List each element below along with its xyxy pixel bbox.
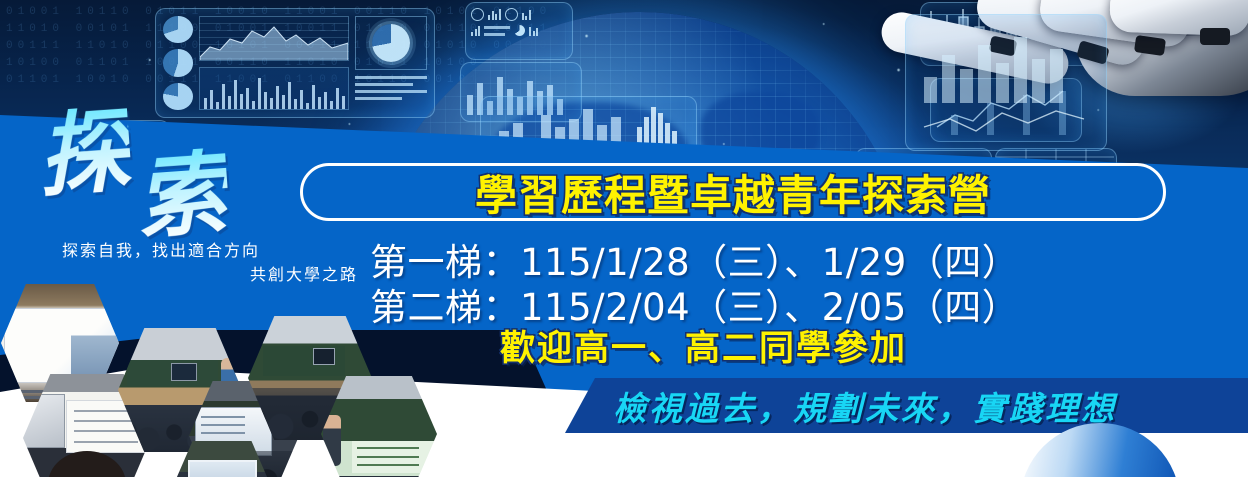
donut-chart-group (163, 16, 193, 110)
subtitle-line-1: 探索自我，找出適合方向 (62, 240, 362, 264)
donut-chart-icon (163, 16, 193, 43)
event-title-pill: 學習歷程暨卓越青年探索營 (300, 163, 1166, 221)
robot-chart-hud (905, 14, 1107, 151)
bar-icon (488, 9, 501, 20)
audience-note-text: 歡迎高一、高二同學參加 (500, 320, 907, 371)
mini-stats-hud (465, 2, 573, 60)
event-promo-banner: 01001 10110 01011 10010 11001 00110 1010… (0, 0, 1248, 477)
target-icon (505, 8, 518, 21)
data-dashboard-hud (155, 8, 435, 118)
slogan-bar: 檢視過去，規劃未來，實踐理想 (565, 378, 1248, 433)
area-chart-graphic (199, 16, 349, 61)
refresh-icon (471, 8, 484, 21)
pie-chart-icon (514, 25, 525, 36)
donut-chart-icon (163, 83, 193, 110)
donut-chart-icon (163, 49, 193, 76)
subtitle-block: 探索自我，找出適合方向 共創大學之路 (62, 240, 362, 288)
bar-chart-graphic (199, 67, 349, 110)
signal-icon (471, 25, 480, 36)
bar-icon (522, 9, 531, 20)
event-title-text: 學習歷程暨卓越青年探索營 (475, 162, 991, 223)
subtitle-line-2: 共創大學之路 (62, 264, 362, 288)
data-text-lines (355, 74, 427, 100)
radial-gauge-graphic (355, 16, 427, 70)
slogan-text: 檢視過去，規劃未來，實踐理想 (613, 382, 1117, 430)
bar-icon (529, 25, 538, 36)
